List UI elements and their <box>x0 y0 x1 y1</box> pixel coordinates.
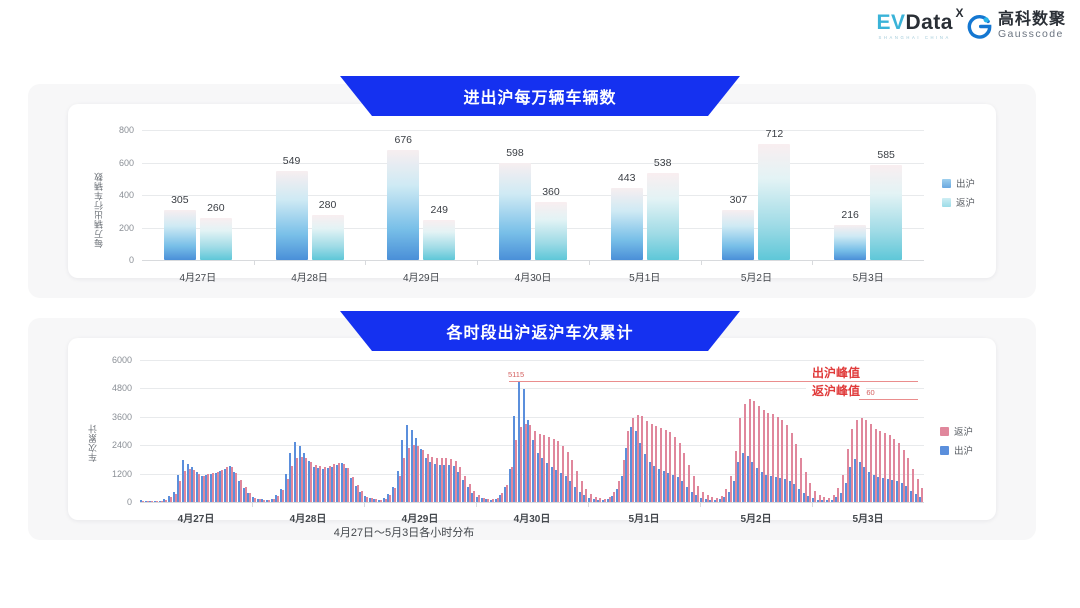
chart2-hour-bar-返沪[interactable] <box>716 498 718 502</box>
chart2-hour-bar-返沪[interactable] <box>403 458 405 502</box>
page-root: EVDataX SHANGHAI CHINA 高科数聚 Gausscode 进出… <box>0 0 1080 608</box>
chart2-hour-bar-返沪[interactable] <box>361 491 363 502</box>
chart2-hour-bar-返沪[interactable] <box>809 483 811 502</box>
chart1-bar-group: 307712 <box>701 130 813 260</box>
gauss-g-mark-icon <box>967 14 992 39</box>
chart2-hour-bar-返沪[interactable] <box>753 401 755 502</box>
chart-title-bottom: 各时段出沪返沪车次累计 <box>446 319 633 343</box>
chart2-hour-bar-返沪[interactable] <box>786 425 788 502</box>
chart2-hour-bar-返沪[interactable] <box>357 485 359 502</box>
chart2-hour-bar-返沪[interactable] <box>487 499 489 502</box>
chart2-x-tick-mark <box>588 502 589 507</box>
chart1-bar-value-label: 712 <box>766 128 784 140</box>
chart2-hour-bar-返沪[interactable] <box>683 453 685 502</box>
chart2-hour-bar-返沪[interactable] <box>861 418 863 502</box>
chart2-hour-bar-返沪[interactable] <box>833 495 835 502</box>
chart2-hour-bar-返沪[interactable] <box>693 476 695 502</box>
chart1-legend-item-出沪[interactable]: 出沪 <box>942 176 975 190</box>
chart2-hour-bar-返沪[interactable] <box>501 493 503 502</box>
chart1-bar-出沪[interactable]: 549 <box>276 171 308 260</box>
chart2-hour-bar-返沪[interactable] <box>851 429 853 502</box>
chart2-hour-bar-返沪[interactable] <box>585 489 587 502</box>
brand-bar: EVDataX SHANGHAI CHINA 高科数聚 Gausscode <box>876 12 1066 40</box>
chart2-hour-bar-返沪[interactable] <box>427 454 429 502</box>
chart1-bar-value-label: 598 <box>506 147 524 159</box>
chart1-x-tick-mark <box>812 260 813 265</box>
chart2-hour-bar-返沪[interactable] <box>375 499 377 502</box>
chart1-bar-返沪[interactable]: 280 <box>312 215 344 261</box>
chart2-hour-bar-返沪[interactable] <box>221 470 223 502</box>
evdata-ev-text: EV <box>876 11 905 34</box>
chart2-hour-bar-返沪[interactable] <box>231 467 233 502</box>
chart2-hour-bar-返沪[interactable] <box>576 471 578 502</box>
chart1-bar-group: 305260 <box>142 130 254 260</box>
chart2-hour-bar-返沪[interactable] <box>637 415 639 502</box>
chart1-bar-value-label: 260 <box>207 202 225 214</box>
chart2-hour-bar-返沪[interactable] <box>296 458 298 502</box>
gausscode-text: 高科数聚 Gausscode <box>998 12 1066 40</box>
chart2-hour-bar-返沪[interactable] <box>543 435 545 502</box>
evdata-tagline: SHANGHAI CHINA <box>878 36 950 40</box>
chart2-hour-bar-返沪[interactable] <box>193 470 195 502</box>
chart2-peak-line-返沪峰值 <box>859 399 918 400</box>
chart1-y-tick-label: 400 <box>100 190 134 200</box>
chart2-hour-bar-返沪[interactable] <box>707 495 709 502</box>
chart1-bar-group: 598360 <box>477 130 589 260</box>
chart2-y-axis-title: 车次累计 <box>86 400 99 462</box>
chart2-hour-bar-返沪[interactable] <box>889 435 891 502</box>
chart2-hour-bar-返沪[interactable] <box>520 427 522 502</box>
chart2-hour-bar-返沪[interactable] <box>329 466 331 502</box>
chart2-hour-bar-返沪[interactable] <box>161 501 163 502</box>
chart2-hour-bar-返沪[interactable] <box>903 450 905 502</box>
chart2-hour-bar-返沪[interactable] <box>641 416 643 502</box>
chart2-gridline <box>140 360 924 361</box>
chart2-plot-area: 0120024003600480060004月27日4月28日4月29日4月30… <box>140 360 924 502</box>
chart2-hour-bar-返沪[interactable] <box>417 446 419 502</box>
chart1-bar-返沪[interactable]: 360 <box>535 202 567 261</box>
evdata-wordmark: EVDataX <box>876 12 953 33</box>
chart1-x-tick-mark <box>254 260 255 265</box>
chart2-hour-bar-返沪[interactable] <box>212 473 214 502</box>
chart1-x-tick-label: 5月3日 <box>853 269 884 284</box>
chart2-hour-bar-返沪[interactable] <box>609 497 611 502</box>
chart-title-top: 进出沪每万辆车辆数 <box>463 84 616 108</box>
chart2-hour-bar-返沪[interactable] <box>697 486 699 502</box>
chart2-hour-bar-返沪[interactable] <box>165 500 167 502</box>
chart2-y-tick-label: 0 <box>98 497 132 507</box>
chart1-bar-value-label: 305 <box>171 194 189 206</box>
chart2-hour-bar-返沪[interactable] <box>142 501 144 502</box>
chart2-hour-bar-返沪[interactable] <box>711 497 713 502</box>
chart1-bar-value-label: 538 <box>654 157 672 169</box>
chart2-hour-bar-返沪[interactable] <box>823 497 825 502</box>
chart2-hour-bar-返沪[interactable] <box>324 467 326 503</box>
chart1-legend-label: 出沪 <box>956 176 975 190</box>
chart1-x-tick-mark <box>365 260 366 265</box>
chart2-x-tick-label: 5月1日 <box>628 510 659 525</box>
chart2-hour-bar-返沪[interactable] <box>749 399 751 502</box>
chart2-hour-bar-返沪[interactable] <box>917 479 919 502</box>
chart1-x-tick-mark <box>477 260 478 265</box>
bar-chart-hourly-trips: 车次累计 0120024003600480060004月27日4月28日4月29… <box>92 360 924 502</box>
chart1-bar-返沪[interactable]: 260 <box>200 218 232 260</box>
chart2-hour-bar-返沪[interactable] <box>189 469 191 502</box>
chart2-hour-bar-返沪[interactable] <box>655 426 657 502</box>
chart2-legend-swatch <box>940 446 949 455</box>
chart2-hour-bar-返沪[interactable] <box>469 484 471 502</box>
chart2-hour-bar-返沪[interactable] <box>399 476 401 503</box>
chart1-x-tick-label: 5月1日 <box>629 269 660 284</box>
chart2-hour-bar-返沪[interactable] <box>413 445 415 502</box>
chart2-hour-bar-返沪[interactable] <box>389 495 391 502</box>
chart2-hour-bar-返沪[interactable] <box>679 443 681 502</box>
chart2-hour-bar-返沪[interactable] <box>884 433 886 502</box>
chart2-hour-bar-返沪[interactable] <box>618 481 620 502</box>
chart1-y-tick-label: 600 <box>100 158 134 168</box>
chart2-hour-bar-返沪[interactable] <box>791 433 793 502</box>
chart2-hour-bar-返沪[interactable] <box>735 451 737 502</box>
chart2-hour-bar-返沪[interactable] <box>847 449 849 502</box>
chart2-legend-label: 出沪 <box>954 443 973 457</box>
chart2-x-tick-label: 5月2日 <box>740 510 771 525</box>
chart2-x-tick-mark <box>700 502 701 507</box>
chart1-legend: 出沪返沪 <box>942 176 975 209</box>
chart2-hour-bar-返沪[interactable] <box>590 494 592 502</box>
chart2-hour-bar-返沪[interactable] <box>674 437 676 502</box>
chart2-hour-bar-返沪[interactable] <box>217 472 219 502</box>
chart2-hour-bar-返沪[interactable] <box>198 474 200 502</box>
chart2-hour-bar-返沪[interactable] <box>315 465 317 502</box>
chart1-bar-value-label: 585 <box>877 149 895 161</box>
chart2-x-tick-label: 4月27日 <box>178 510 215 525</box>
chart2-hour-bar-返沪[interactable] <box>240 480 242 502</box>
chart2-hour-bar-返沪[interactable] <box>539 434 541 502</box>
chart2-hour-bar-返沪[interactable] <box>660 428 662 502</box>
chart1-bar-返沪[interactable]: 249 <box>423 220 455 260</box>
chart2-hour-bar-返沪[interactable] <box>581 481 583 502</box>
chart2-hour-bar-返沪[interactable] <box>819 495 821 502</box>
chart2-hour-bar-返沪[interactable] <box>567 452 569 502</box>
chart2-hour-bar-返沪[interactable] <box>422 450 424 502</box>
chart2-hour-bar-返沪[interactable] <box>245 487 247 502</box>
chart2-hour-bar-返沪[interactable] <box>795 444 797 502</box>
chart2-hour-bar-返沪[interactable] <box>898 443 900 502</box>
gausscode-logo: 高科数聚 Gausscode <box>967 12 1066 40</box>
chart2-legend: 返沪出沪 <box>940 424 973 457</box>
chart2-hour-bar-返沪[interactable] <box>263 500 265 502</box>
chart2-hour-bar-返沪[interactable] <box>394 488 396 502</box>
chart2-hour-bar-返沪[interactable] <box>464 476 466 502</box>
chart2-hour-bar-返沪[interactable] <box>767 413 769 502</box>
chart2-hour-bar-返沪[interactable] <box>203 476 205 503</box>
chart2-hour-bar-返沪[interactable] <box>441 458 443 502</box>
chart2-hour-bar-返沪[interactable] <box>506 485 508 502</box>
chart2-hour-bar-返沪[interactable] <box>366 497 368 502</box>
chart1-bar-value-label: 280 <box>319 199 337 211</box>
chart2-hour-bar-返沪[interactable] <box>478 495 480 502</box>
chart1-y-tick-label: 800 <box>100 125 134 135</box>
chart1-y-tick-label: 0 <box>100 255 134 265</box>
chart2-hour-bar-返沪[interactable] <box>772 414 774 502</box>
chart2-hour-bar-返沪[interactable] <box>529 425 531 502</box>
chart2-hour-bar-返沪[interactable] <box>875 429 877 502</box>
chart2-x-tick-label: 4月30日 <box>514 510 551 525</box>
chart2-x-tick-mark <box>364 502 365 507</box>
chart2-hour-bar-返沪[interactable] <box>347 468 349 502</box>
chart2-hour-bar-返沪[interactable] <box>277 496 279 502</box>
chart2-hour-bar-返沪[interactable] <box>800 458 802 502</box>
chart2-hour-bar-返沪[interactable] <box>455 461 457 502</box>
chart1-bar-group: 216585 <box>812 130 924 260</box>
chart2-hour-bar-返沪[interactable] <box>777 417 779 502</box>
chart2-hour-bar-返沪[interactable] <box>147 501 149 502</box>
chart1-x-tick-label: 4月27日 <box>180 269 217 284</box>
chart1-x-tick-mark <box>701 260 702 265</box>
chart1-bar-value-label: 216 <box>841 209 859 221</box>
chart2-hour-bar-返沪[interactable] <box>669 432 671 502</box>
chart1-x-tick-mark <box>589 260 590 265</box>
chart2-hour-bar-返沪[interactable] <box>319 466 321 502</box>
chart1-x-tick-label: 5月2日 <box>741 269 772 284</box>
chart1-bar-出沪[interactable]: 305 <box>164 210 196 260</box>
chart2-hour-bar-返沪[interactable] <box>828 498 830 502</box>
chart1-bar-value-label: 307 <box>730 194 748 206</box>
chart2-hour-bar-返沪[interactable] <box>651 424 653 502</box>
evdata-logo: EVDataX SHANGHAI CHINA <box>876 12 953 40</box>
chart2-peak-label-出沪峰值: 出沪峰值 <box>806 364 866 381</box>
chart2-hour-bar-返沪[interactable] <box>599 498 601 502</box>
chart2-hour-bar-返沪[interactable] <box>665 430 667 502</box>
chart2-hour-bar-返沪[interactable] <box>553 439 555 502</box>
chart1-bar-value-label: 443 <box>618 172 636 184</box>
chart2-hour-bar-返沪[interactable] <box>151 501 153 502</box>
evdata-x-superscript-icon: X <box>955 7 964 19</box>
chart1-bar-出沪[interactable]: 216 <box>834 225 866 260</box>
chart2-hour-bar-返沪[interactable] <box>763 410 765 502</box>
chart2-hour-bar-返沪[interactable] <box>249 493 251 502</box>
chart2-hour-bar-返沪[interactable] <box>445 458 447 502</box>
chart2-hour-bar-返沪[interactable] <box>893 439 895 502</box>
chart2-hour-bar-返沪[interactable] <box>646 421 648 502</box>
chart2-hour-bar-返沪[interactable] <box>865 420 867 502</box>
chart1-x-tick-label: 4月29日 <box>403 269 440 284</box>
chart2-hour-bar-返沪[interactable] <box>497 498 499 502</box>
chart2-hour-bar-返沪[interactable] <box>450 459 452 502</box>
chart1-bar-value-label: 676 <box>395 134 413 146</box>
chart2-hour-bar-返沪[interactable] <box>207 474 209 502</box>
chart2-hour-bar-返沪[interactable] <box>515 440 517 502</box>
chart2-hour-bar-返沪[interactable] <box>870 424 872 502</box>
chart2-legend-swatch <box>940 427 949 436</box>
chart1-x-tick-label: 4月28日 <box>291 269 328 284</box>
chart2-x-axis-caption: 4月27日～5月3日各小时分布 <box>334 524 475 540</box>
chart2-x-tick-mark <box>476 502 477 507</box>
chart2-x-tick-label: 4月28日 <box>290 510 327 525</box>
chart2-hour-bar-返沪[interactable] <box>492 499 494 502</box>
chart2-hour-bar-返沪[interactable] <box>352 477 354 502</box>
chart2-y-tick-label: 3600 <box>98 412 132 422</box>
gausscode-en-name: Gausscode <box>998 29 1066 40</box>
chart2-hour-bar-返沪[interactable] <box>291 466 293 502</box>
chart2-hour-bar-返沪[interactable] <box>310 462 312 502</box>
chart-title-banner-bottom: 各时段出沪返沪车次累计 <box>340 311 740 351</box>
chart1-bar-出沪[interactable]: 598 <box>499 163 531 260</box>
chart2-hour-bar-返沪[interactable] <box>333 464 335 502</box>
chart1-bar-返沪[interactable]: 538 <box>647 173 679 260</box>
chart1-bar-返沪[interactable]: 585 <box>870 165 902 260</box>
chart1-bar-group: 443538 <box>589 130 701 260</box>
chart2-hour-bar-返沪[interactable] <box>571 460 573 502</box>
chart2-hour-bar-返沪[interactable] <box>170 497 172 502</box>
chart2-hour-bar-返沪[interactable] <box>473 491 475 502</box>
chart2-hour-bar-返沪[interactable] <box>273 499 275 502</box>
chart2-hour-bar-返沪[interactable] <box>613 492 615 502</box>
chart2-hour-bar-返沪[interactable] <box>548 437 550 502</box>
chart2-hour-bar-返沪[interactable] <box>226 467 228 502</box>
chart2-hour-bar-返沪[interactable] <box>483 498 485 502</box>
chart2-hour-bar-返沪[interactable] <box>156 501 158 502</box>
chart1-legend-label: 返沪 <box>956 195 975 209</box>
chart1-bar-返沪[interactable]: 712 <box>758 144 790 260</box>
chart2-legend-label: 返沪 <box>954 424 973 438</box>
chart2-hour-bar-返沪[interactable] <box>730 476 732 502</box>
chart2-hour-bar-返沪[interactable] <box>338 463 340 502</box>
chart2-hour-bar-返沪[interactable] <box>627 431 629 502</box>
chart2-hour-bar-返沪[interactable] <box>184 471 186 502</box>
chart1-axis-line <box>142 260 924 261</box>
chart1-bar-出沪[interactable]: 443 <box>611 188 643 260</box>
chart1-bar-出沪[interactable]: 676 <box>387 150 419 260</box>
chart2-hour-bar-返沪[interactable] <box>758 406 760 502</box>
chart2-hour-bar-返沪[interactable] <box>739 418 741 502</box>
chart2-hour-bar-返沪[interactable] <box>879 431 881 502</box>
chart2-hour-bar-返沪[interactable] <box>725 489 727 502</box>
chart1-y-tick-label: 200 <box>100 223 134 233</box>
chart2-y-tick-label: 2400 <box>98 440 132 450</box>
chart2-hour-bar-返沪[interactable] <box>534 431 536 502</box>
chart2-hour-bar-返沪[interactable] <box>459 467 461 502</box>
chart2-hour-bar-返沪[interactable] <box>595 497 597 502</box>
chart2-hour-bar-返沪[interactable] <box>623 460 625 502</box>
chart2-hour-bar-返沪[interactable] <box>907 458 909 502</box>
chart2-hour-bar-返沪[interactable] <box>702 492 704 502</box>
chart2-hour-bar-返沪[interactable] <box>842 475 844 502</box>
chart1-bar-value-label: 360 <box>542 186 560 198</box>
chart2-hour-bar-返沪[interactable] <box>287 479 289 502</box>
chart2-hour-bar-返沪[interactable] <box>282 490 284 502</box>
chart-title-banner-top: 进出沪每万辆车辆数 <box>340 76 740 116</box>
chart2-hour-bar-返沪[interactable] <box>511 467 513 502</box>
chart2-hour-bar-返沪[interactable] <box>632 418 634 502</box>
gausscode-cn-name: 高科数聚 <box>998 12 1066 29</box>
chart2-hour-bar-返沪[interactable] <box>744 404 746 502</box>
chart2-hour-bar-返沪[interactable] <box>856 420 858 502</box>
chart2-hour-bar-返沪[interactable] <box>562 446 564 502</box>
chart2-hour-bar-返沪[interactable] <box>721 496 723 502</box>
chart2-hour-bar-返沪[interactable] <box>912 469 914 502</box>
chart2-hour-bar-返沪[interactable] <box>259 499 261 502</box>
chart2-hour-bar-返沪[interactable] <box>385 499 387 502</box>
chart2-x-tick-mark <box>812 502 813 507</box>
chart1-x-tick-label: 4月30日 <box>515 269 552 284</box>
chart2-hour-bar-返沪[interactable] <box>301 457 303 502</box>
chart2-x-tick-mark <box>252 502 253 507</box>
chart2-peak-label-返沪峰值: 返沪峰值 <box>806 382 866 399</box>
chart2-x-tick-label: 5月3日 <box>852 510 883 525</box>
chart1-legend-item-返沪[interactable]: 返沪 <box>942 195 975 209</box>
chart1-bar-value-label: 549 <box>283 155 301 167</box>
chart1-bar-group: 549280 <box>254 130 366 260</box>
chart1-legend-swatch <box>942 179 951 188</box>
chart2-hour-bar-返沪[interactable] <box>837 488 839 502</box>
chart2-hour-bar-返沪[interactable] <box>305 458 307 502</box>
chart2-legend-item-出沪[interactable]: 出沪 <box>940 443 973 457</box>
chart1-bar-value-label: 249 <box>431 204 449 216</box>
chart2-hour-bar-返沪[interactable] <box>371 498 373 502</box>
chart2-hour-bar-返沪[interactable] <box>525 424 527 502</box>
chart1-bar-出沪[interactable]: 307 <box>722 210 754 260</box>
chart2-hour-bar-返沪[interactable] <box>557 441 559 502</box>
chart2-hour-bar-返沪[interactable] <box>814 491 816 502</box>
chart2-hour-bar-返沪[interactable] <box>268 500 270 502</box>
chart2-gridline <box>140 417 924 418</box>
chart2-x-tick-label: 4月29日 <box>402 510 439 525</box>
chart2-hour-bar-返沪[interactable] <box>431 457 433 502</box>
chart2-peak-value-出沪峰值: 5115 <box>508 370 524 379</box>
chart2-legend-item-返沪[interactable]: 返沪 <box>940 424 973 438</box>
chart2-hour-bar-返沪[interactable] <box>604 499 606 502</box>
bar-chart-vehicle-counts: 每万辆出行车辆数 02004006008003052604月27日5492804… <box>96 130 924 260</box>
chart2-hour-bar-返沪[interactable] <box>436 458 438 502</box>
chart2-hour-bar-返沪[interactable] <box>179 481 181 502</box>
chart2-hour-bar-返沪[interactable] <box>921 488 923 502</box>
chart2-hour-bar-返沪[interactable] <box>805 472 807 502</box>
chart2-hour-bar-返沪[interactable] <box>781 420 783 502</box>
chart2-hour-bar-返沪[interactable] <box>380 500 382 502</box>
chart1-plot-area: 02004006008003052604月27日5492804月28日67624… <box>142 130 924 260</box>
chart2-y-tick-label: 4800 <box>98 383 132 393</box>
chart2-hour-bar-返沪[interactable] <box>175 494 177 502</box>
chart1-bar-group: 676249 <box>365 130 477 260</box>
chart2-hour-bar-返沪[interactable] <box>254 498 256 502</box>
chart2-hour-bar-返沪[interactable] <box>235 473 237 502</box>
evdata-data-text: Data <box>905 11 953 34</box>
chart2-hour-bar-返沪[interactable] <box>408 448 410 502</box>
chart2-hour-bar-返沪[interactable] <box>688 465 690 502</box>
chart2-axis-line <box>140 502 924 503</box>
chart2-hour-bar-返沪[interactable] <box>343 464 345 502</box>
chart2-y-tick-label: 6000 <box>98 355 132 365</box>
chart2-y-tick-label: 1200 <box>98 469 132 479</box>
chart1-legend-swatch <box>942 198 951 207</box>
